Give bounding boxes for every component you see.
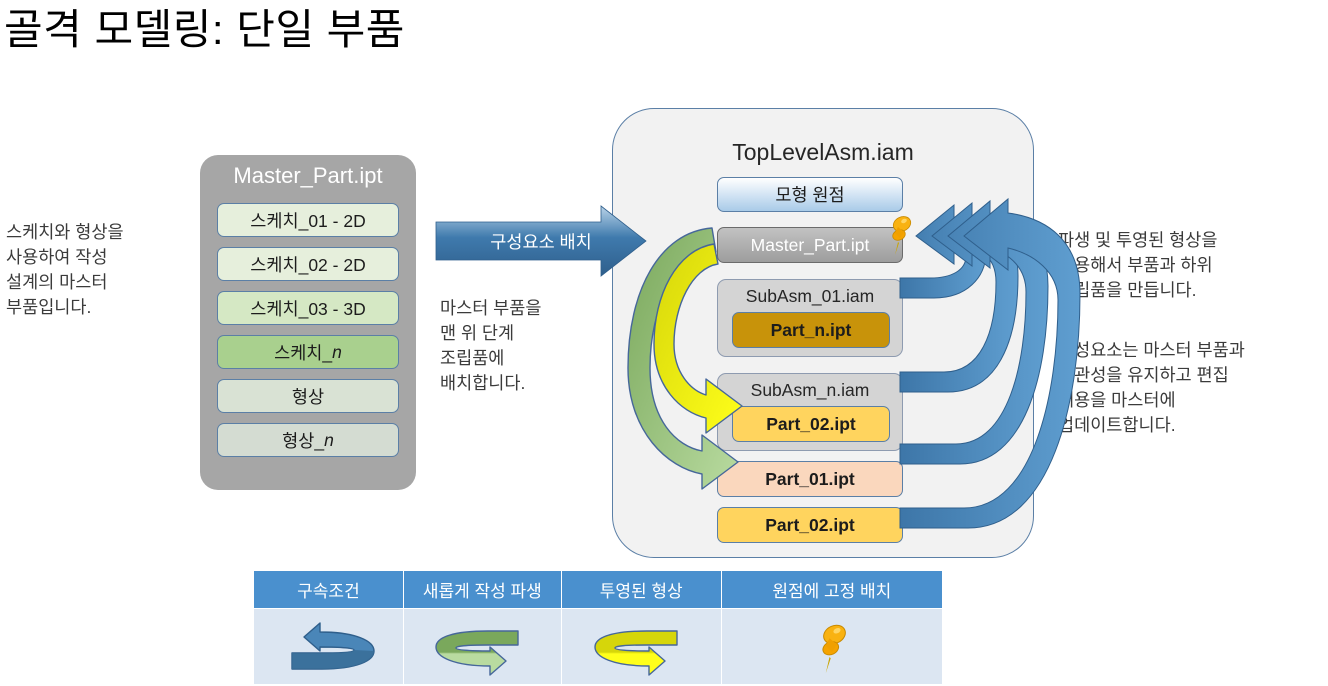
legend-header-constraint[interactable]: 구속조건 [254,571,404,609]
node-master-part[interactable]: Master_Part.ipt [717,227,903,263]
legend-table: 구속조건 새롭게 작성 파생 투영된 형상 원점에 고정 배치 [253,570,943,685]
node-part-02[interactable]: Part_02.ipt [717,507,903,543]
yellow-curved-arrow-icon [583,617,699,677]
node-part-01[interactable]: Part_01.ipt [717,461,903,497]
master-part-panel-title: Master_Part.ipt [200,163,416,189]
master-part-row-feature[interactable]: 형상 [217,379,399,413]
left-description-text: 스케치와 형상을 사용하여 작성 설계의 마스터 부품입니다. [6,220,196,320]
right-bottom-description-text: 구성요소는 마스터 부품과 연관성을 유지하고 편집 내용을 마스터에 업데이트… [1058,338,1326,438]
legend-header-project[interactable]: 투영된 형상 [561,571,721,609]
master-part-row-feature-n[interactable]: 형상_n [217,423,399,457]
master-part-row-sketch-01[interactable]: 스케치_01 - 2D [217,203,399,237]
legend-cell-derive [403,609,561,685]
master-part-row-sketch-03[interactable]: 스케치_03 - 3D [217,291,399,325]
top-level-assembly-panel: TopLevelAsm.iam 모형 원점 Master_Part.ipt Su… [612,108,1034,558]
slide-canvas: 골격 모델링: 단일 부품 스케치와 형상을 사용하여 작성 설계의 마스터 부… [0,0,1328,686]
node-model-origin[interactable]: 모형 원점 [717,177,903,212]
legend-cell-project [561,609,721,685]
pushpin-icon [812,619,852,675]
master-part-panel: Master_Part.ipt 스케치_01 - 2D 스케치_02 - 2D … [200,155,416,490]
subassembly-n[interactable]: SubAsm_n.iam Part_02.ipt [717,373,903,451]
legend-header-derive[interactable]: 새롭게 작성 파생 [403,571,561,609]
legend-icon-row [254,609,943,685]
pushpin-wrap [722,619,942,675]
subassembly-01[interactable]: SubAsm_01.iam Part_n.ipt [717,279,903,357]
subassembly-n-child-part[interactable]: Part_02.ipt [732,406,890,442]
pushpin-icon [884,212,916,256]
right-top-description-text: 파생 및 투영된 형상을 사용해서 부품과 하위 조립품을 만듭니다. [1058,228,1326,303]
master-part-row-sketch-n[interactable]: 스케치_n [217,335,399,369]
green-curved-arrow-icon [424,617,540,677]
legend-header-row: 구속조건 새롭게 작성 파생 투영된 형상 원점에 고정 배치 [254,571,943,609]
subassembly-01-label: SubAsm_01.iam [718,286,902,307]
legend-header-ground[interactable]: 원점에 고정 배치 [721,571,942,609]
page-title: 골격 모델링: 단일 부품 [4,0,405,57]
legend-cell-ground [721,609,942,685]
assembly-panel-title: TopLevelAsm.iam [613,139,1033,166]
legend-cell-constraint [254,609,404,685]
blue-curved-arrow-icon [270,617,386,677]
place-component-arrow-label: 구성요소 배치 [490,232,591,252]
master-part-row-sketch-02[interactable]: 스케치_02 - 2D [217,247,399,281]
subassembly-n-label: SubAsm_n.iam [718,380,902,401]
middle-description-text: 마스터 부품을 맨 위 단계 조립품에 배치합니다. [440,296,630,396]
subassembly-01-child-part[interactable]: Part_n.ipt [732,312,890,348]
